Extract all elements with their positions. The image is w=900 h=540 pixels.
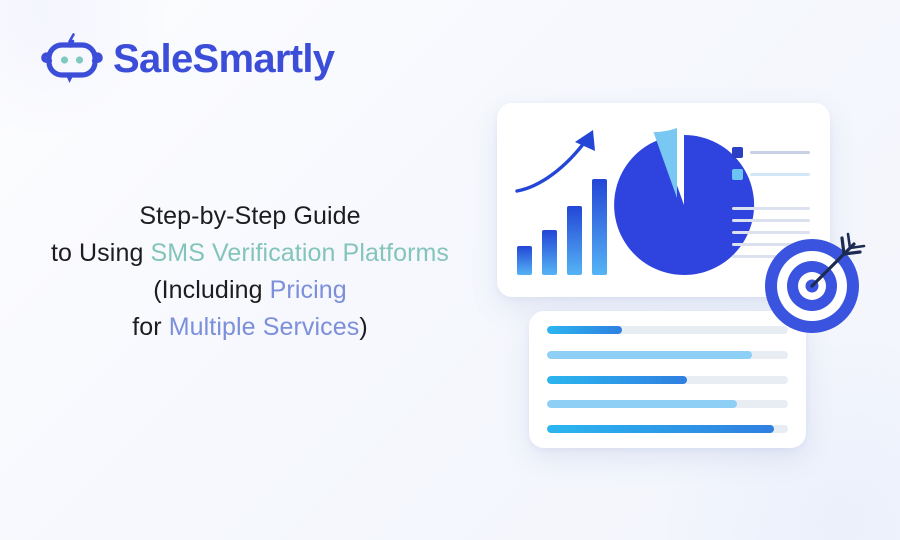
- legend-label-placeholder: [750, 151, 810, 154]
- target-dartboard-icon: [762, 232, 866, 336]
- growth-bar: [517, 246, 532, 275]
- headline-segment-plain: to Using: [51, 239, 151, 267]
- headline-segment-accent-teal: SMS Verification Platforms: [151, 239, 450, 267]
- progress-track: [547, 351, 788, 359]
- headline-line-1: Step-by-Step Guide: [0, 198, 500, 235]
- legend-swatch-icon: [732, 169, 743, 180]
- headline-segment-accent-blue: Multiple Services: [169, 313, 360, 341]
- headline-line-2: to Using SMS Verification Platforms: [0, 235, 500, 272]
- progress-fill: [547, 400, 737, 408]
- brand-name: SaleSmartly: [113, 39, 334, 79]
- chart-legend: [732, 147, 810, 191]
- page-title: Step-by-Step Guide to Using SMS Verifica…: [0, 198, 500, 346]
- legend-swatch-icon: [732, 147, 743, 158]
- headline-line-4: for Multiple Services): [0, 309, 500, 346]
- headline-segment-plain: ): [359, 313, 367, 341]
- legend-label-placeholder: [750, 173, 810, 176]
- progress-track: [547, 326, 788, 334]
- growth-bar: [567, 206, 582, 275]
- headline-segment-plain: (Including: [153, 276, 269, 304]
- progress-track: [547, 376, 788, 384]
- headline-segment-accent-blue: Pricing: [270, 276, 347, 304]
- legend-item: [732, 169, 810, 180]
- text-placeholder-line: [732, 219, 810, 222]
- progress-fill: [547, 425, 774, 433]
- brand-logo[interactable]: SaleSmartly: [40, 33, 334, 85]
- headline-segment-plain: for: [132, 313, 169, 341]
- growth-bar-group: [517, 179, 607, 275]
- growth-bar: [592, 179, 607, 275]
- progress-fill: [547, 376, 687, 384]
- robot-head-icon: [40, 33, 104, 85]
- progress-track: [547, 425, 788, 433]
- legend-item: [732, 147, 810, 158]
- progress-fill: [547, 326, 622, 334]
- text-placeholder-line: [732, 207, 810, 210]
- headline-segment-plain: Step-by-Step Guide: [139, 202, 360, 230]
- progress-fill: [547, 351, 752, 359]
- progress-track: [547, 400, 788, 408]
- headline-line-3: (Including Pricing: [0, 272, 500, 309]
- growth-bar: [542, 230, 557, 275]
